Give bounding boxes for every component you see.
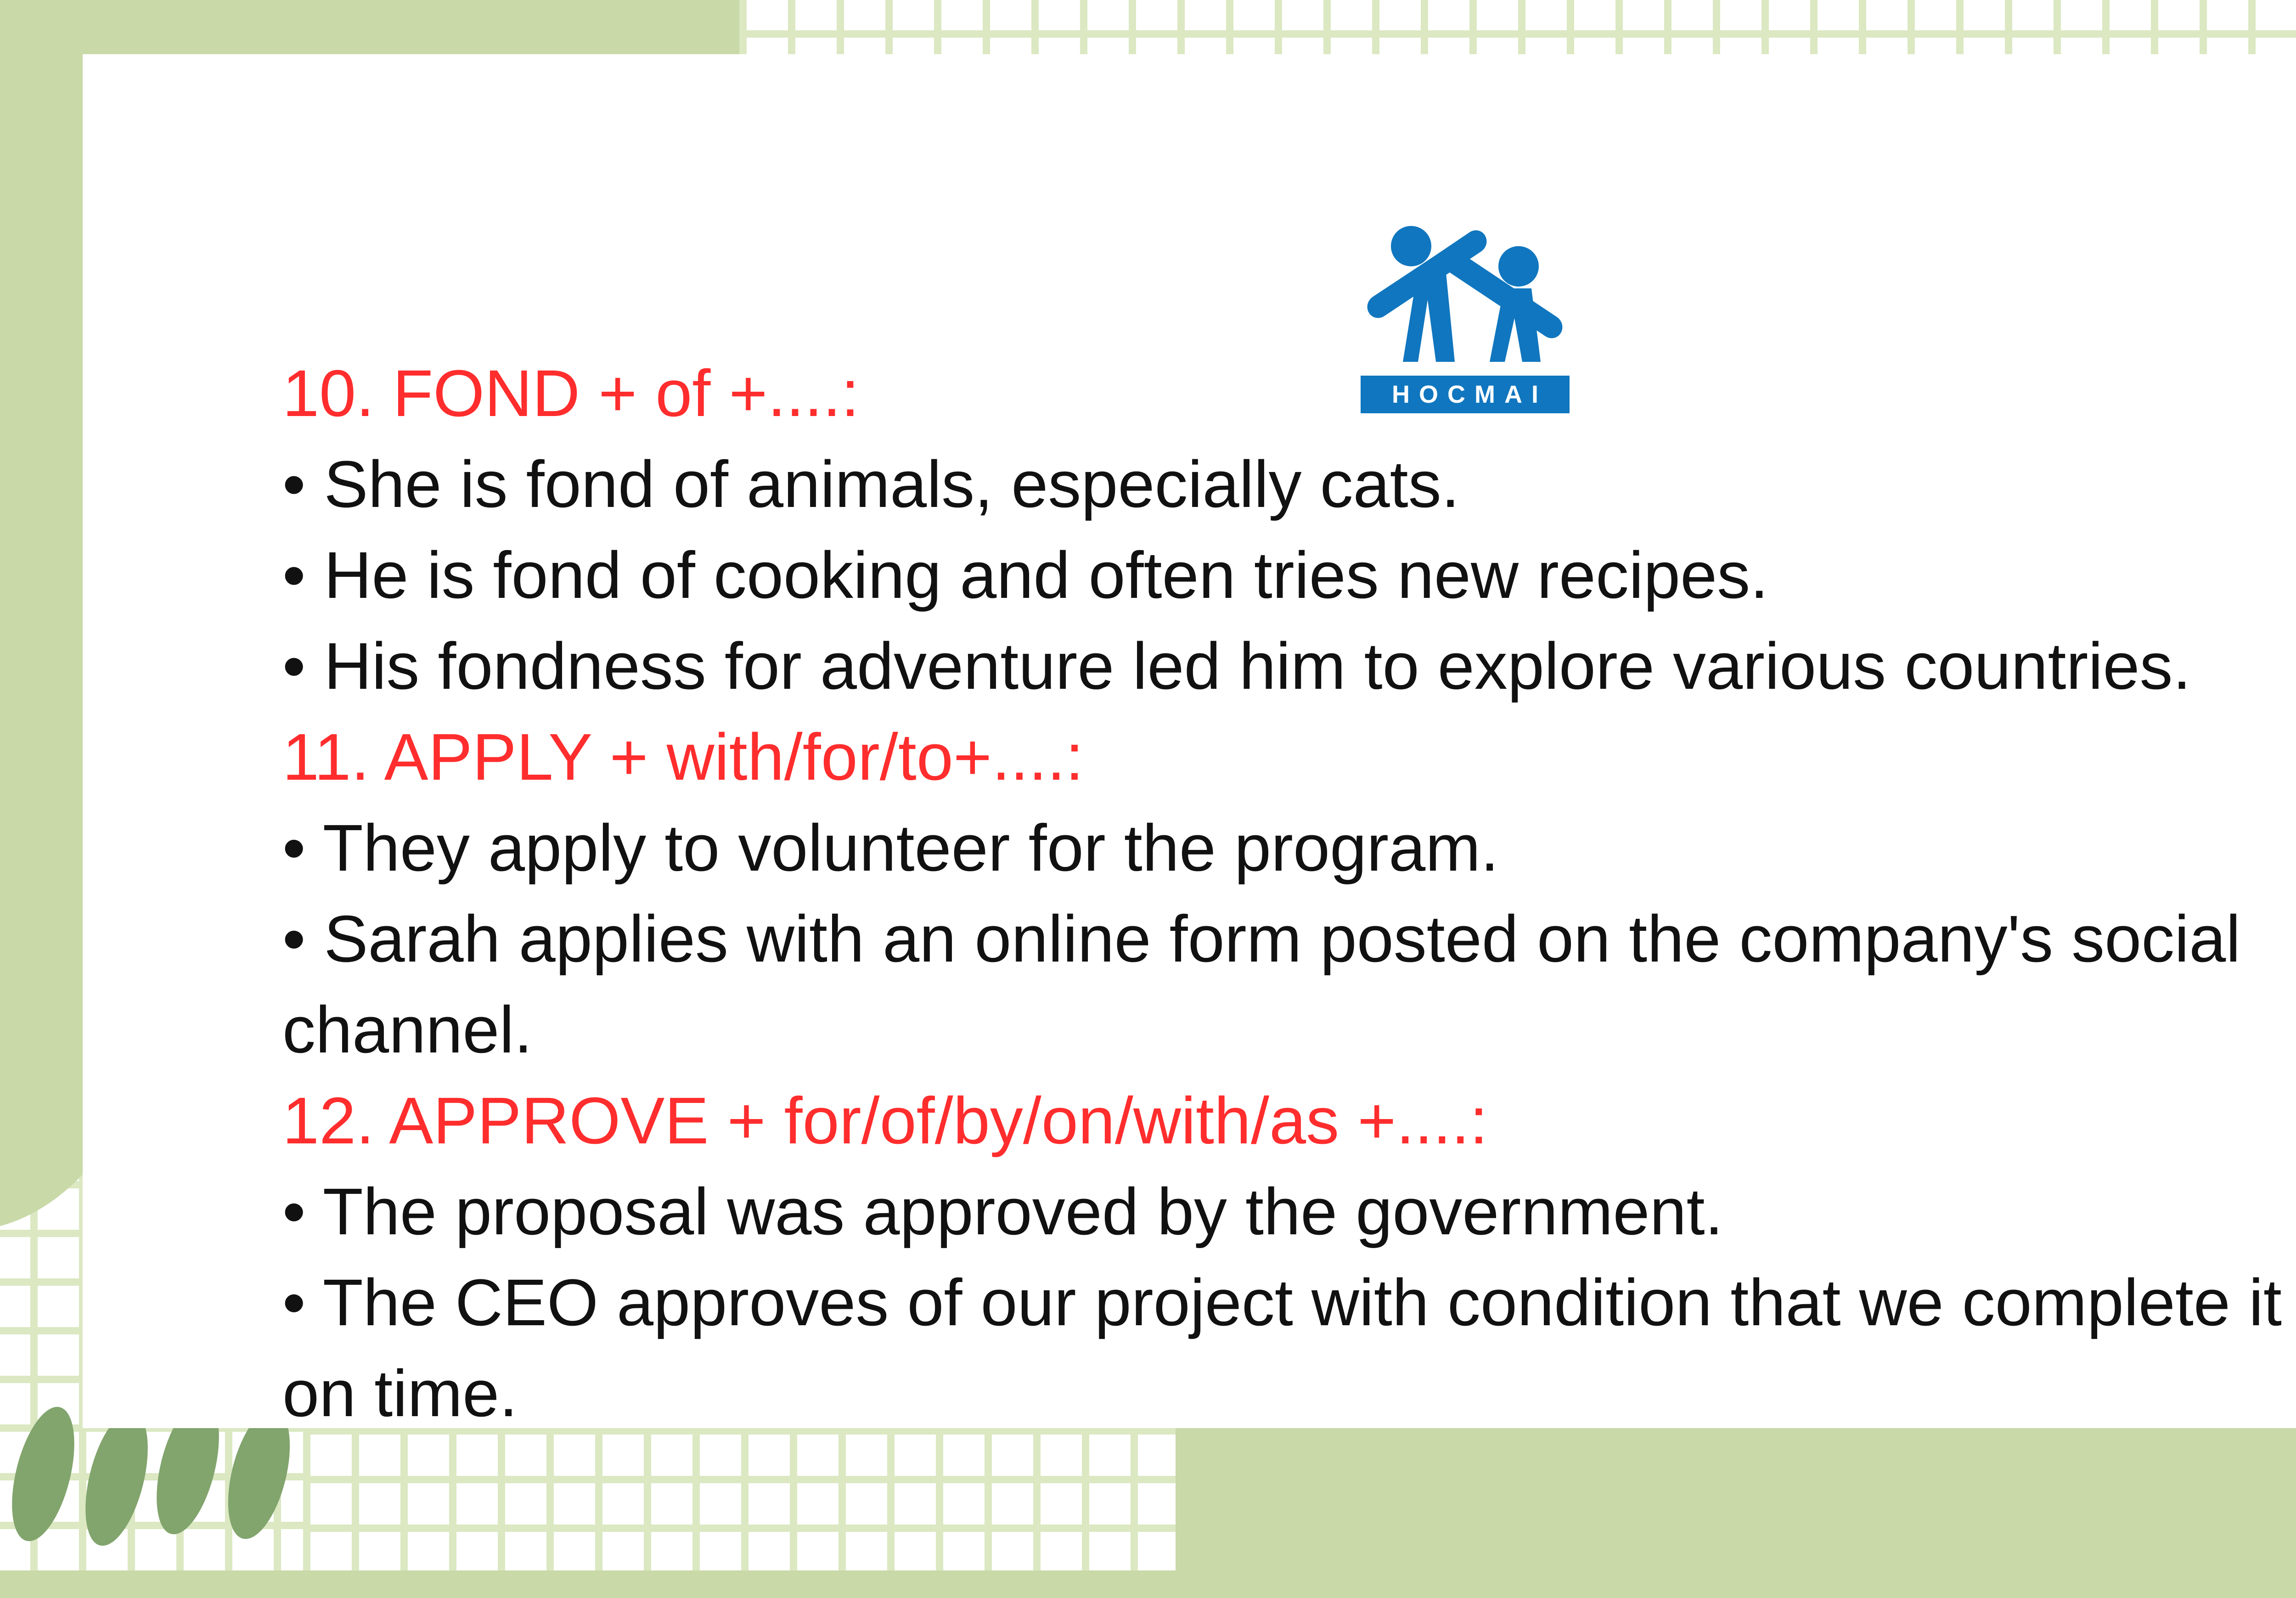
- lesson-bullet: • The proposal was approved by the gover…: [282, 1166, 2296, 1257]
- lesson-bullet: • She is fond of animals, especially cat…: [282, 439, 2296, 530]
- lesson-bullet: • Sarah applies with an online form post…: [282, 894, 2296, 985]
- lesson-heading: 12. APPROVE + for/of/by/on/with/as +....…: [282, 1075, 2296, 1166]
- lesson-bullet: • He is fond of cooking and often tries …: [282, 530, 2296, 621]
- lesson-line-continuation: channel.: [282, 985, 2296, 1075]
- lesson-bullet: • His fondness for adventure led him to …: [282, 621, 2296, 712]
- lesson-line-continuation: on time.: [282, 1348, 2296, 1439]
- lesson-text-block: 10. FOND + of +....:• She is fond of ani…: [282, 348, 2296, 1439]
- lesson-bullet: • They apply to volunteer for the progra…: [282, 803, 2296, 894]
- lesson-heading: 11. APPLY + with/for/to+....:: [282, 712, 2296, 803]
- lesson-bullet: • The CEO approves of our project with c…: [282, 1257, 2296, 1348]
- lesson-heading: 10. FOND + of +....:: [282, 348, 2296, 439]
- slide-card: HOCMAI 10. FOND + of +....:• She is fond…: [83, 54, 2296, 1428]
